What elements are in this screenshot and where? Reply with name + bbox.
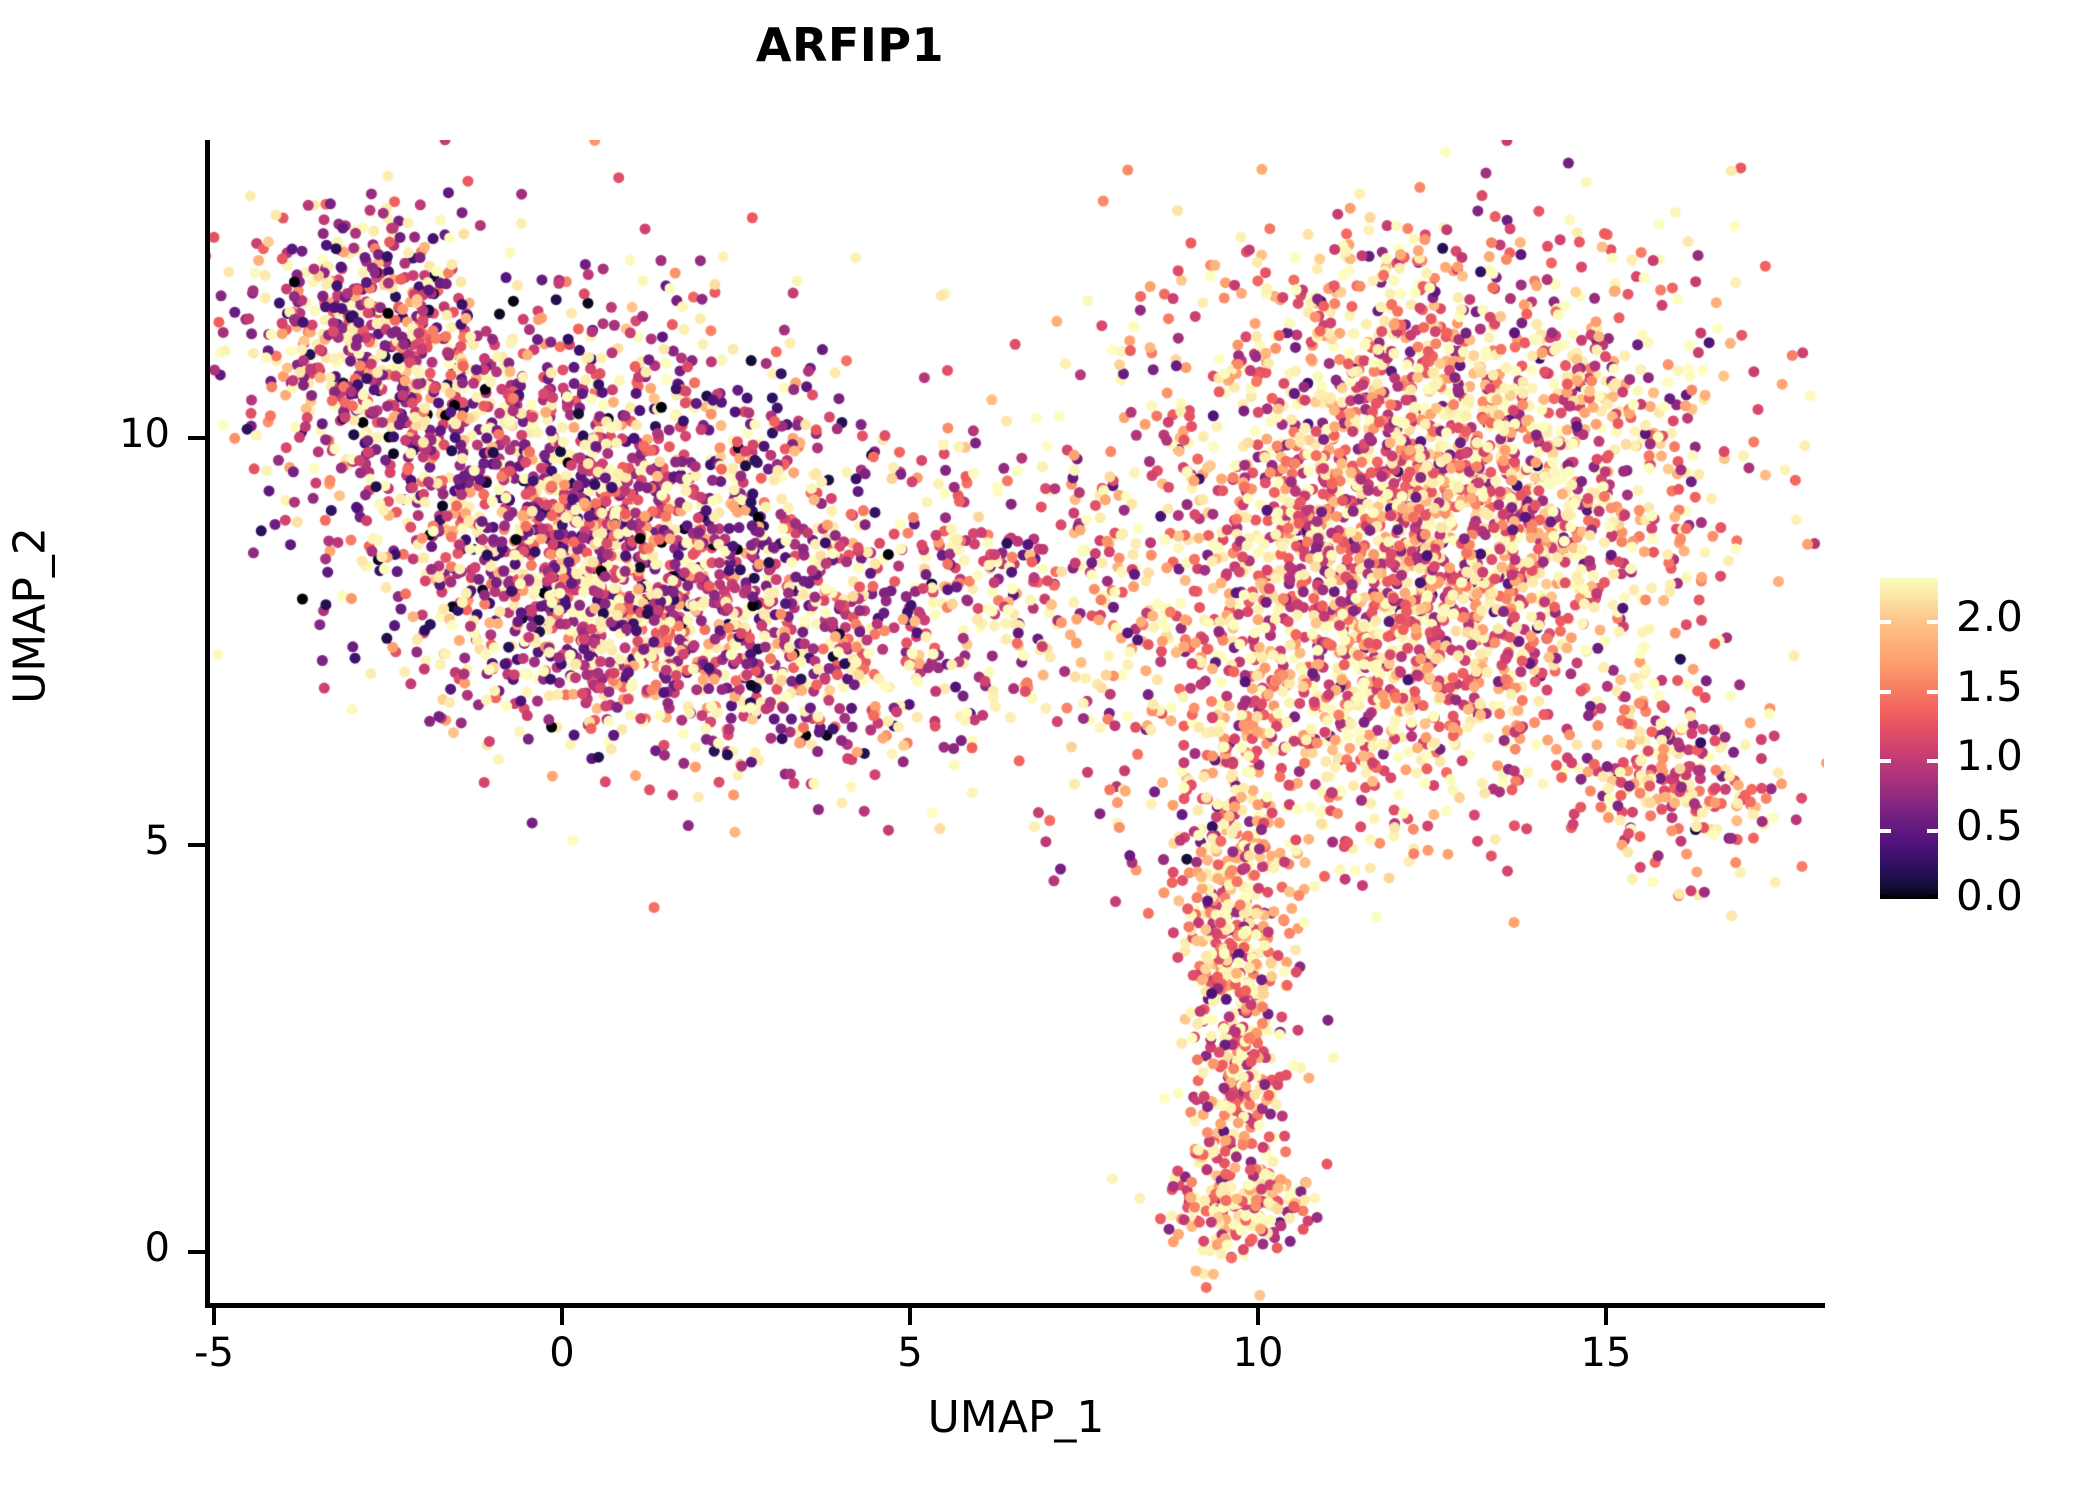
colorbar-tick-label: 1.0: [1956, 731, 2096, 780]
page-title: ARFIP1: [0, 18, 1700, 72]
y-tick-mark: [188, 843, 205, 847]
colorbar-tick-label: 1.5: [1956, 662, 2096, 711]
x-tick-mark: [212, 1308, 216, 1325]
x-tick-label: 0: [482, 1330, 642, 1376]
colorbar-tick-label: 0.5: [1956, 801, 2096, 850]
x-tick-label: 10: [1178, 1330, 1338, 1376]
umap-feature-plot: ARFIP1 -5051015 0510 UMAP_1 UMAP_2 2.01.…: [0, 0, 2100, 1500]
plot-axes-area: [208, 140, 1824, 1305]
y-axis-spine: [205, 140, 210, 1308]
y-tick-mark: [188, 436, 205, 440]
x-tick-mark: [908, 1308, 912, 1325]
colorbar-gradient: [1880, 578, 1938, 899]
y-tick-label: 5: [0, 818, 170, 864]
x-axis-spine: [205, 1303, 1825, 1308]
colorbar-tick-mark: [1880, 829, 1891, 833]
colorbar-tick-mark: [1880, 759, 1891, 763]
colorbar-tick-mark: [1927, 759, 1938, 763]
y-tick-mark: [188, 1250, 205, 1254]
y-axis-label: UMAP_2: [5, 416, 56, 816]
scatter-plot-canvas: [208, 140, 1824, 1305]
colorbar-tick-mark: [1880, 620, 1891, 624]
x-tick-mark: [1256, 1308, 1260, 1325]
x-tick-label: 15: [1526, 1330, 1686, 1376]
x-tick-label: -5: [134, 1330, 294, 1376]
colorbar-tick-mark: [1927, 829, 1938, 833]
x-tick-mark: [1604, 1308, 1608, 1325]
colorbar-tick-mark: [1880, 895, 1891, 899]
colorbar-tick-mark: [1880, 690, 1891, 694]
y-tick-label: 0: [0, 1225, 170, 1271]
x-axis-label: UMAP_1: [208, 1392, 1824, 1443]
x-tick-label: 5: [830, 1330, 990, 1376]
colorbar-tick-label: 2.0: [1956, 592, 2096, 641]
colorbar-tick-mark: [1927, 620, 1938, 624]
colorbar-tick-mark: [1927, 690, 1938, 694]
colorbar-tick-label: 0.0: [1956, 871, 2096, 920]
x-tick-mark: [560, 1308, 564, 1325]
expression-colorbar: 2.01.51.00.50.0: [1880, 578, 2080, 903]
colorbar-tick-mark: [1927, 895, 1938, 899]
